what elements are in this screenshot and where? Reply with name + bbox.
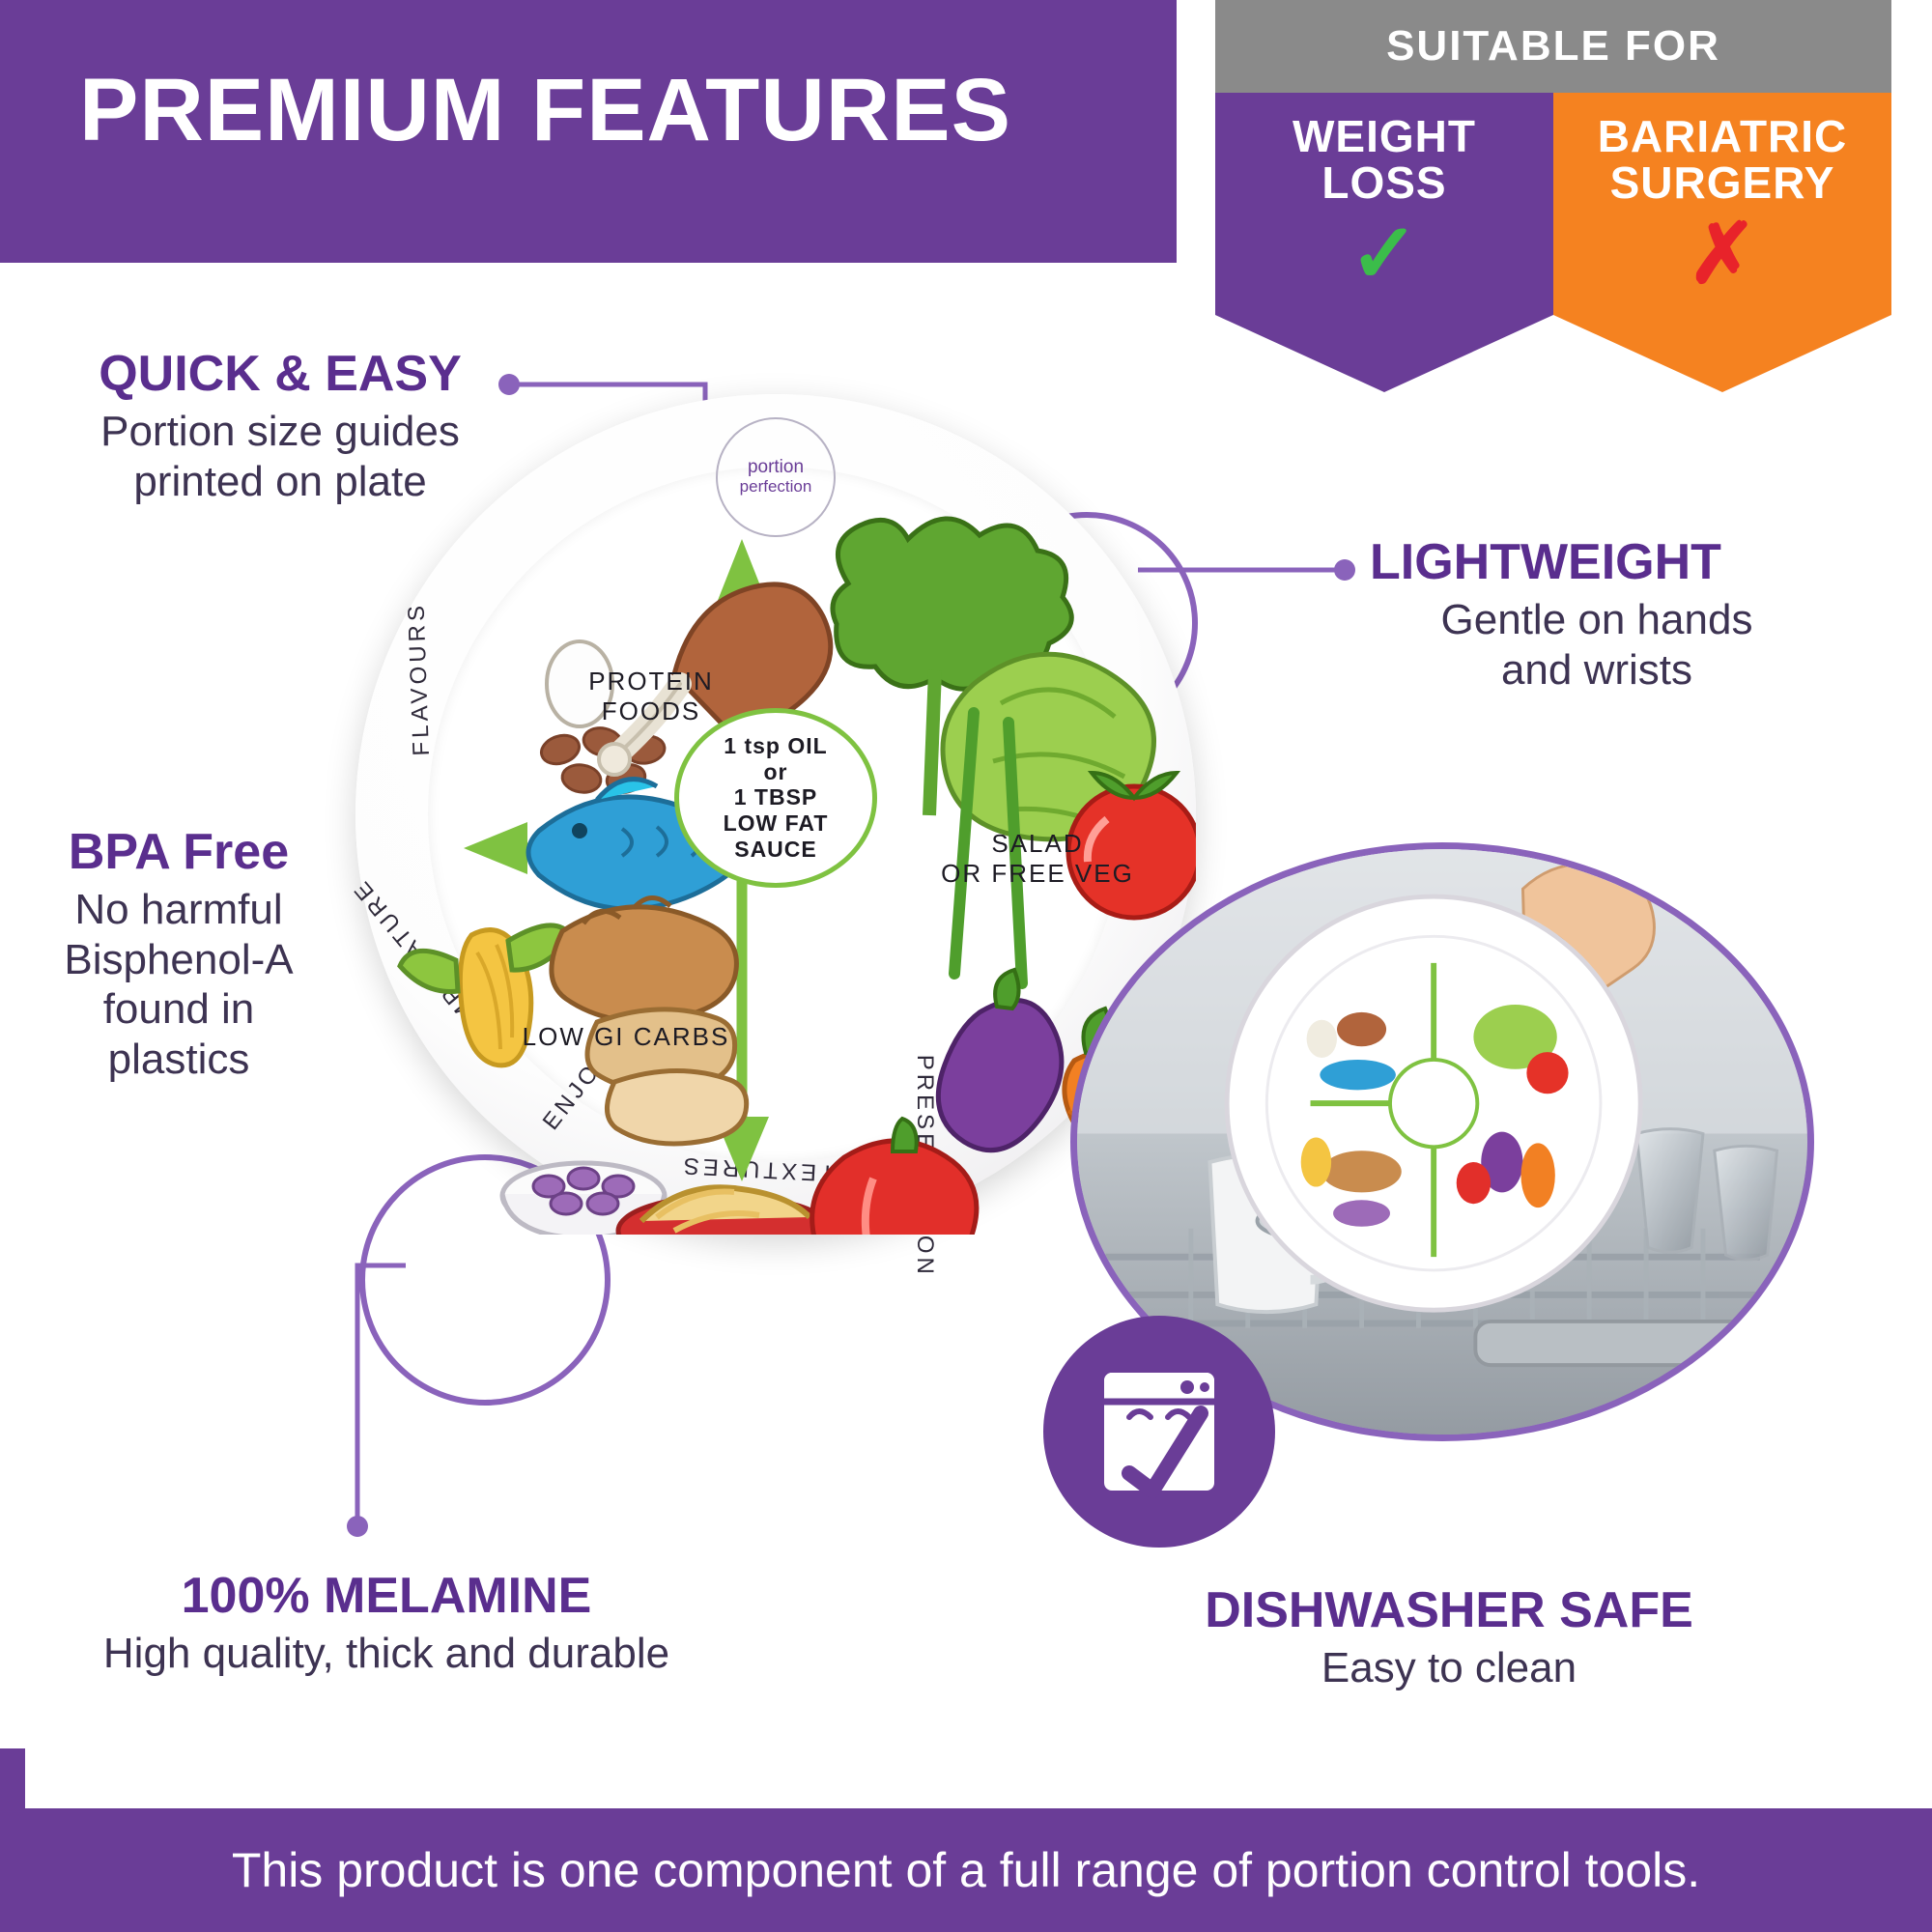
callout-dishwasher-safe-sub1: Easy to clean: [1140, 1643, 1758, 1693]
dishwasher-safe-icon-badge: [1043, 1316, 1275, 1548]
callout-lightweight-sub1: Gentle on hands: [1370, 595, 1824, 645]
callout-quick-easy-title: QUICK & EASY: [53, 348, 507, 401]
oil-line4: LOW FAT: [724, 810, 829, 837]
callout-bpa-free-sub1: No harmful: [19, 885, 338, 935]
oil-line1: 1 tsp OIL: [724, 733, 827, 759]
callout-melamine: 100% MELAMINE High quality, thick and du…: [39, 1570, 734, 1679]
left-accent-strip: [0, 1748, 25, 1808]
footer-text: This product is one component of a full …: [232, 1842, 1700, 1898]
plate-label-protein: PROTEIN FOODS: [545, 667, 757, 726]
callout-bpa-free-sub3: found in: [19, 984, 338, 1035]
callout-melamine-title: 100% MELAMINE: [39, 1570, 734, 1623]
callout-bpa-free: BPA Free No harmful Bisphenol-A found in…: [19, 826, 338, 1085]
callout-lightweight-sub2: and wrists: [1370, 645, 1824, 696]
callout-lightweight-title: LIGHTWEIGHT: [1370, 536, 1891, 589]
callout-bpa-free-sub2: Bisphenol-A: [19, 935, 338, 985]
callout-dishwasher-safe-title: DISHWASHER SAFE: [1140, 1584, 1758, 1637]
dishwasher-icon: [1087, 1359, 1232, 1504]
oil-line3: 1 TBSP: [734, 784, 818, 810]
oil-line5: SAUCE: [734, 837, 817, 863]
callout-melamine-sub1: High quality, thick and durable: [39, 1629, 734, 1679]
infographic-page: PREMIUM FEATURES SUITABLE FOR WEIGHT LOS…: [0, 0, 1932, 1932]
callout-bpa-free-title: BPA Free: [19, 826, 338, 879]
plate-label-carbs: LOW GI CARBS: [481, 1022, 771, 1052]
portion-plate: portion perfection ENJOY! PRESENTATION V…: [355, 394, 1196, 1235]
oil-sauce-bubble: 1 tsp OIL or 1 TBSP LOW FAT SAUCE: [674, 708, 877, 888]
callout-bpa-free-sub4: plastics: [19, 1035, 338, 1085]
callout-lightweight: LIGHTWEIGHT Gentle on hands and wrists: [1370, 536, 1891, 695]
footer-bar: This product is one component of a full …: [0, 1808, 1932, 1932]
callout-dishwasher-safe: DISHWASHER SAFE Easy to clean: [1140, 1584, 1758, 1693]
oil-line2: or: [764, 759, 788, 785]
